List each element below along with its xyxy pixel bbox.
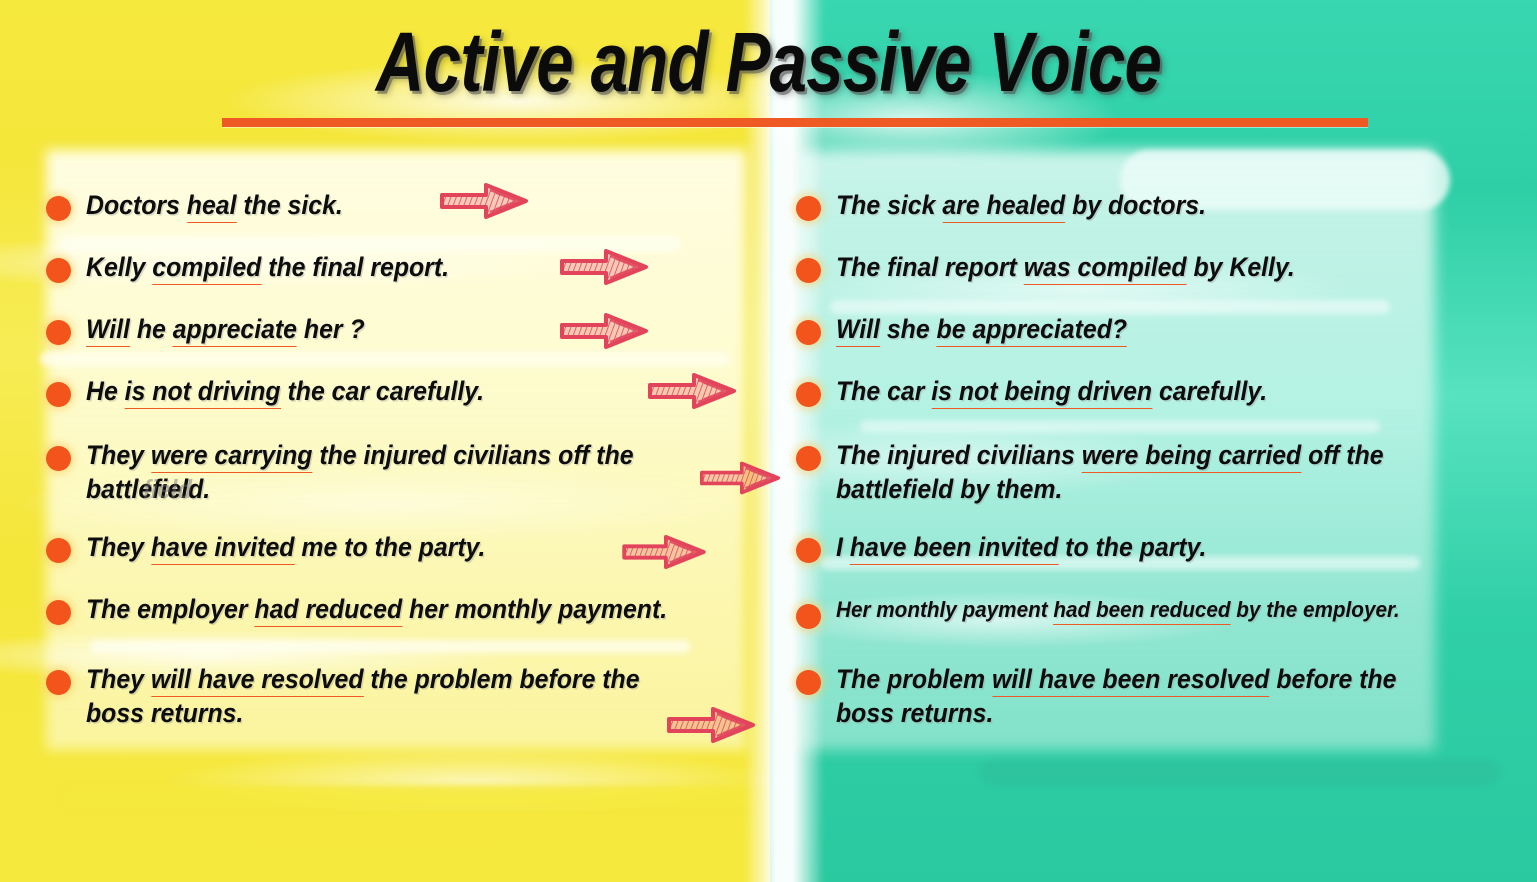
highlighted-verb: have invited xyxy=(151,532,295,565)
highlighted-verb: is not being driven xyxy=(931,376,1152,409)
highlighted-verb: was compiled xyxy=(1024,252,1187,285)
sentence-text: The final report was compiled by Kelly. xyxy=(836,250,1449,284)
sentence-text: The employer had reduced her monthly pay… xyxy=(86,592,677,626)
highlighted-verb: were carrying xyxy=(151,440,313,473)
bullet-icon xyxy=(796,382,821,407)
poster-canvas: Active and Passive Voice Doctors heal th… xyxy=(0,0,1537,882)
right-arrow-icon xyxy=(666,706,756,744)
bullet-icon xyxy=(796,196,821,221)
title-block: Active and Passive Voice xyxy=(0,0,1537,146)
list-item: He is not driving the car carefully. xyxy=(28,374,728,408)
highlighted-verb: had reduced xyxy=(254,594,402,627)
right-arrow-icon xyxy=(700,460,780,496)
right-arrow-icon xyxy=(622,534,706,570)
bullet-icon xyxy=(46,258,71,283)
highlighted-verb: heal xyxy=(187,190,237,223)
bullet-icon xyxy=(796,670,821,695)
bullet-icon xyxy=(796,538,821,563)
list-item: The car is not being driven carefully. xyxy=(782,374,1502,408)
bullet-icon xyxy=(46,446,71,471)
highlighted-verb: appreciate xyxy=(173,314,297,347)
sentence-text: Her monthly payment had been reduced by … xyxy=(836,596,1449,624)
sentence-fragment: Her monthly payment xyxy=(836,597,1053,622)
sentence-fragment: carefully. xyxy=(1152,376,1267,406)
highlighted-verb: Will xyxy=(836,314,880,347)
sentence-text: Will she be appreciated? xyxy=(836,312,1449,346)
highlighted-verb: have been invited xyxy=(850,532,1058,565)
sentence-fragment: the sick. xyxy=(236,190,342,220)
sentence-fragment: the final report. xyxy=(261,252,449,282)
sentence-text: The sick are healed by doctors. xyxy=(836,188,1449,222)
sentence-fragment: by the employer. xyxy=(1231,597,1400,622)
sentence-fragment: He xyxy=(86,376,125,406)
sentence-fragment: her ? xyxy=(297,314,365,344)
highlighted-verb: be appreciated? xyxy=(937,314,1127,347)
sentence-fragment: by Kelly. xyxy=(1187,252,1295,282)
sentence-fragment: The sick xyxy=(836,190,942,220)
bullet-icon xyxy=(796,258,821,283)
brush-streak xyxy=(980,760,1500,786)
bullet-icon xyxy=(46,382,71,407)
highlighted-verb: will have resolved xyxy=(151,664,364,697)
sentence-fragment: The car xyxy=(836,376,931,406)
bullet-icon xyxy=(46,600,71,625)
bullet-icon xyxy=(46,538,71,563)
list-item: Will she be appreciated? xyxy=(782,312,1502,346)
sentence-fragment: They xyxy=(86,664,151,694)
sentence-text: The car is not being driven carefully. xyxy=(836,374,1449,408)
sentence-fragment: The problem xyxy=(836,664,992,694)
sentence-fragment: They xyxy=(86,532,151,562)
list-item: Her monthly payment had been reduced by … xyxy=(782,596,1502,624)
sentence-fragment: the car carefully. xyxy=(281,376,484,406)
list-item: The employer had reduced her monthly pay… xyxy=(28,592,728,626)
list-item: Doctors heal the sick. xyxy=(28,188,728,222)
sentence-fragment: her monthly payment. xyxy=(402,594,667,624)
sentence-fragment: They xyxy=(86,440,151,470)
right-arrow-icon xyxy=(648,372,736,410)
highlighted-verb: compiled xyxy=(152,252,261,285)
sentence-text: They have invited me to the party. xyxy=(86,530,677,564)
sentence-text: I have been invited to the party. xyxy=(836,530,1449,564)
sentence-fragment: he xyxy=(130,314,173,344)
sentence-text: They will have resolved the problem befo… xyxy=(86,662,677,730)
title-underline-rule xyxy=(222,118,1368,127)
highlighted-verb: were being carried xyxy=(1082,440,1302,473)
highlighted-verb: will have been resolved xyxy=(992,664,1270,697)
list-item: The sick are healed by doctors. xyxy=(782,188,1502,222)
bullet-icon xyxy=(46,196,71,221)
list-item: They will have resolved the problem befo… xyxy=(28,662,728,730)
list-item: I have been invited to the party. xyxy=(782,530,1502,564)
highlighted-verb: are healed xyxy=(942,190,1065,223)
right-arrow-icon xyxy=(560,312,648,350)
sentence-fragment: me to the party. xyxy=(294,532,485,562)
sentence-fragment: to the party. xyxy=(1058,532,1206,562)
bullet-icon xyxy=(46,320,71,345)
sentence-fragment: The injured civilians xyxy=(836,440,1082,470)
brush-streak xyxy=(40,352,730,366)
bullet-icon xyxy=(796,320,821,345)
sentence-text: The injured civilians were being carried… xyxy=(836,438,1449,506)
sentence-fragment: she xyxy=(880,314,937,344)
brush-streak xyxy=(860,420,1380,433)
list-item: The injured civilians were being carried… xyxy=(782,438,1502,506)
right-arrow-icon xyxy=(560,248,648,286)
bullet-icon xyxy=(796,446,821,471)
list-item: The final report was compiled by Kelly. xyxy=(782,250,1502,284)
list-item: They were carrying the injured civilians… xyxy=(28,438,728,506)
sentence-text: They were carrying the injured civilians… xyxy=(86,438,677,506)
bullet-icon xyxy=(46,670,71,695)
brush-streak xyxy=(90,640,690,653)
sentence-fragment: I xyxy=(836,532,850,562)
right-arrow-icon xyxy=(440,182,528,220)
sentence-fragment: by doctors. xyxy=(1065,190,1206,220)
sentence-text: He is not driving the car carefully. xyxy=(86,374,677,408)
highlighted-verb: had been reduced xyxy=(1053,597,1230,625)
list-item: The problem will have been resolved befo… xyxy=(782,662,1502,730)
bullet-icon xyxy=(796,604,821,629)
sentence-text: The problem will have been resolved befo… xyxy=(836,662,1449,730)
sentence-fragment: Kelly xyxy=(86,252,152,282)
highlighted-verb: is not driving xyxy=(125,376,281,409)
highlighted-verb: Will xyxy=(86,314,130,347)
sentence-fragment: The employer xyxy=(86,594,254,624)
sentence-fragment: The final report xyxy=(836,252,1024,282)
sentence-text: Doctors heal the sick. xyxy=(86,188,677,222)
brush-streak xyxy=(60,786,760,808)
page-title: Active and Passive Voice xyxy=(154,14,1384,110)
sentence-fragment: Doctors xyxy=(86,190,187,220)
